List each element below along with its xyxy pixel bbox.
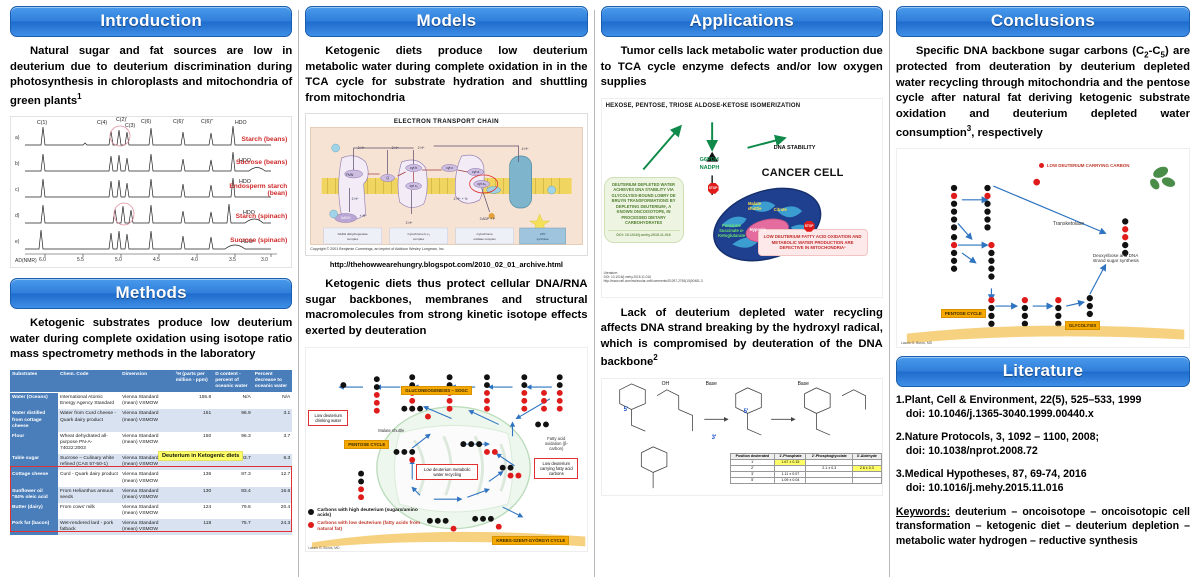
section-header-applications: Applications — [601, 6, 883, 37]
deuterium-depleted-water-box: DEUTERIUM DEPLETED WATER ACHIEVES DNA ST… — [604, 177, 684, 243]
nmr-toplabel-c6p: C(6)' — [173, 119, 184, 125]
svg-text:+ H⁺: + H⁺ — [360, 214, 367, 218]
cell-code: Water from Curd cheese - Quark dairy pro… — [58, 409, 120, 431]
legend-dot-low-deuterium-carbon — [1039, 163, 1044, 168]
applications-body-2-text: Lack of deuterium depleted water recycli… — [601, 307, 883, 369]
source-line-3: http://www.cell.com/molecular-cell/comme… — [604, 279, 703, 283]
cell-dimension: Vienna Standard (mean) VSMOW — [120, 393, 174, 410]
cell-code: International Atomic Energy Agency Stand… — [58, 393, 120, 410]
svg-text:2 H⁺: 2 H⁺ — [352, 197, 359, 201]
pentose-credit: Laszlo G. Boros, MD — [901, 341, 932, 345]
tag-gluconeogenesis: GLUCONEOGENESIS – SOGC — [401, 386, 472, 395]
cell-code: From Helianthus annuus seeds — [58, 487, 120, 503]
nmr-axis-line — [21, 253, 279, 258]
svg-text:2 H⁺: 2 H⁺ — [392, 146, 399, 150]
low-deuterium-fatty-acid-box: LOW DEUTERIUM FATTY ACID OXIDATION AND M… — [758, 229, 868, 256]
tag-glycolysis-box: GLYCOLYSIS — [1065, 321, 1101, 330]
cell-v3 — [853, 477, 882, 483]
table-row: Sunflower oil "84% oleic acid From Helia… — [10, 487, 292, 503]
etc-canvas: 2 H⁺2 H⁺2 H⁺ 4 H⁺2 H⁺2 H⁺ 2 H⁺ + ½3 ADP … — [310, 127, 582, 245]
mito-label-malate-shuttle: Malate shuttle — [742, 201, 768, 211]
svg-text:cyt c: cyt c — [446, 166, 453, 170]
mito-label-citrate: Citrate — [774, 207, 787, 212]
conclusions-part1: Specific DNA backbone sugar carbons (C — [916, 45, 1144, 57]
nmr-spectra-figure: C(1) C(4) C(2)' C(3) C(6) C(6)' C(6)'' H… — [10, 116, 292, 268]
cell-substrate: Sunflower oil "84% oleic acid — [10, 487, 58, 503]
table-row: Flour Wheat dehydrated all-purpose PN-A-… — [10, 432, 292, 454]
cell-v1: 1.09 ± 0.04 — [775, 477, 806, 483]
conclusions-part2: -C — [1149, 45, 1161, 57]
dna-backbone-figure: OH Base Base 3' 5' 5' Position deuterate… — [601, 378, 883, 496]
label-malate-shuttle: Malate shuttle — [378, 428, 404, 433]
cell-decrease: 16.6 — [253, 487, 293, 503]
models-body-2: Ketogenic diets thus protect cellular DN… — [305, 277, 587, 339]
nmr-toplabel-hdo: HDO — [235, 120, 247, 126]
label-deoxyribose-synthesis: Deoxyribose and DNA strand sugar synthes… — [1093, 253, 1149, 264]
cell-code: From cows' milk — [58, 503, 120, 519]
pentose-cycle-figure: LOW DEUTERIUM CARRYING CARBON Transketol… — [896, 148, 1190, 348]
cell-h2: 124 — [174, 503, 214, 519]
svg-text:Cytochrome b-c₁: Cytochrome b-c₁ — [408, 232, 430, 236]
poster-root: Introduction Natural sugar and fat sourc… — [0, 0, 1200, 587]
cell-dimension: Vienna Standard (mean) VSMOW — [120, 503, 174, 519]
table-row: Butter (dairy) From cows' milk Vienna St… — [10, 503, 292, 519]
legend-low-deuterium: Carbons with low deuterium (fatty acids … — [317, 521, 427, 532]
label-fatty-acid-oxidation: Fatty acid oxidation (β-carbon) — [538, 436, 574, 451]
table-row: 5' 1.09 ± 0.04 — [730, 477, 881, 483]
table-row: Table sugar Sucrose – Culinary white ref… — [10, 454, 292, 470]
svg-text:Q: Q — [387, 176, 390, 180]
cell-decrease: N/A — [253, 393, 293, 410]
conclusions-body: Specific DNA backbone sugar carbons (C2-… — [896, 44, 1190, 141]
nmr-tick-4-5: 4.5 — [153, 257, 160, 263]
nmr-label-sucrose-spinach: Sucrose (spinach) — [227, 237, 287, 244]
cell-dimension: Vienna Standard (mean) VSMOW — [120, 487, 174, 503]
electron-transport-chain-figure: ELECTRON TRANSPORT CHAIN — [305, 113, 587, 256]
column-models: Models Ketogenic diets produce low deute… — [299, 6, 593, 581]
th-h2-ppm: ²H (parts per million - ppm) — [174, 370, 214, 393]
cancer-cell-figure: HEXOSE, PENTOSE, TRIOSE ALDOSE-KETOSE IS… — [601, 98, 883, 298]
cell-dcontent: N/A — [213, 393, 253, 410]
nmr-row-id-d: d) — [15, 213, 19, 219]
models-body: Ketogenic diets produce low deuterium me… — [305, 44, 587, 106]
th-d-content: D content - percent of oceanic water — [213, 370, 253, 393]
nmr-tick-3-5: 3.5 — [229, 257, 236, 263]
introduction-superscript: 1 — [77, 92, 81, 101]
etc-title: ELECTRON TRANSPORT CHAIN — [310, 118, 582, 125]
dna-label-3prime: 3' — [712, 435, 717, 441]
svg-text:2 H⁺: 2 H⁺ — [406, 221, 413, 225]
column-applications: Applications Tumor cells lack metabolic … — [595, 6, 889, 581]
red-box-low-deuterium-drinking-water: Low deuterium drinking water — [308, 410, 348, 426]
dna-products-table: Position deuterated 1'-Phosphate 2'-Phos… — [730, 453, 882, 484]
section-header-models: Models — [305, 6, 587, 37]
svg-text:complex: complex — [413, 237, 425, 241]
cell-decrease: 20.4 — [253, 503, 293, 519]
th-substrates: Substrates — [10, 370, 58, 393]
svg-text:cyt b: cyt b — [410, 166, 417, 170]
nmr-row-id-c: c) — [15, 187, 19, 193]
applications-superscript: 2 — [653, 353, 657, 362]
nmr-toplabel-c3: C(3) — [125, 123, 135, 129]
cell-substrate: Water distilled from cottage cheese — [10, 409, 58, 431]
nmr-toplabel-c6pp: C(6)'' — [201, 119, 213, 125]
reference-citation: Medical Hypotheses, 87, 69-74, 2016 — [905, 468, 1087, 480]
methods-table: Substrates Chem. Code Dimension ²H (part… — [10, 370, 292, 536]
reference-number: 3. — [896, 468, 905, 480]
svg-text:2 H⁺: 2 H⁺ — [358, 146, 365, 150]
cell-substrate: Flour — [10, 432, 58, 454]
dna-label-5prime-a: 5' — [624, 407, 629, 413]
cell-code: Curd - Quark dairy product — [58, 470, 120, 486]
krebs-credit: Laszlo G. Boros, MD — [308, 546, 339, 550]
cell-code: Wheat dehydrated all-purpose PN-A-74022:… — [58, 432, 120, 454]
etc-copyright: Copyright © 2001 Benjamin Cummings, an i… — [310, 247, 582, 251]
applications-body-2: Lack of deuterium depleted water recycli… — [601, 306, 883, 371]
column-introduction-methods: Introduction Natural sugar and fat sourc… — [4, 6, 298, 581]
table-row: Cottage cheese Curd - Quark dairy produc… — [10, 470, 292, 486]
cell-substrate: Pork fat (bacon) — [10, 519, 58, 535]
tag-pentose-cycle-box: PENTOSE CYCLE — [941, 309, 986, 318]
column-conclusions-literature: Conclusions Specific DNA backbone sugar … — [890, 6, 1196, 581]
methods-table-wrap: Substrates Chem. Code Dimension ²H (part… — [10, 370, 292, 536]
nmr-label-sucrose-beans: Sucrose (beans) — [227, 159, 287, 166]
cell-code: Sucrose – Culinary white refined (CAS 57… — [58, 454, 120, 470]
nmr-row-id-e: e) — [15, 239, 19, 245]
cell-decrease: 3.1 — [253, 409, 293, 431]
th-percent-decrease: Percent decrease to oceanic water — [253, 370, 293, 393]
nmr-label-starch-spinach: Starch (spinach) — [227, 213, 287, 220]
cell-substrate: Cottage cheese — [10, 470, 58, 486]
svg-text:3 ADP + P: 3 ADP + P — [480, 217, 496, 221]
introduction-body-text: Natural sugar and fat sources are low in… — [10, 45, 292, 107]
reference-citation: Plant, Cell & Environment, 22(5), 525–53… — [905, 394, 1142, 406]
dna-label-base-1: Base — [706, 381, 717, 387]
red-box-low-deuterium-metabolic-water: Low deuterium metabolic water recycling — [416, 464, 478, 480]
svg-text:FMN: FMN — [346, 173, 354, 177]
dna-products-table-wrap: Position deuterated 1'-Phosphate 2'-Phos… — [730, 453, 882, 484]
svg-text:2 H⁺: 2 H⁺ — [418, 146, 425, 150]
reference-item-2: 2.Nature Protocols, 3, 1092 – 1100, 2008… — [896, 431, 1190, 459]
mito-label-tca-intermediates: Fumarate Succinate α-Ketoglutarate — [714, 223, 750, 238]
table-row: Water distilled from cottage cheese Wate… — [10, 409, 292, 431]
reference-doi: doi: 10.1016/j.mehy.2015.11.016 — [896, 482, 1190, 496]
table-row: Pork fat (bacon) Wet-rendered lard - por… — [10, 519, 292, 535]
reference-item-1: 1.Plant, Cell & Environment, 22(5), 525–… — [896, 394, 1190, 422]
legend-dot-low-deuterium — [308, 522, 314, 528]
svg-text:Cytochrome: Cytochrome — [477, 232, 494, 236]
svg-text:2 H⁺ + ½: 2 H⁺ + ½ — [454, 197, 468, 201]
nmr-toplabel-c1: C(1) — [37, 120, 47, 126]
conclusions-part4: , respectively — [971, 126, 1043, 138]
svg-text:ATP: ATP — [540, 232, 546, 236]
cell-decrease: 12.7 — [253, 470, 293, 486]
cell-h2: 151 — [174, 409, 214, 431]
stop-sign-upper: STOP — [708, 183, 719, 194]
cell-h2: 118 — [174, 519, 214, 535]
cell-dcontent: 79.6 — [213, 503, 253, 519]
cell-pos: 5' — [730, 477, 775, 483]
cell-h2: 136 — [174, 470, 214, 486]
etc-source-url: http://thehowwearehungry.blogspot.com/20… — [305, 260, 587, 269]
section-header-conclusions: Conclusions — [896, 6, 1190, 37]
nmr-label-endosperm-starch: Endosperm starch (bean) — [227, 183, 287, 198]
stop-sign-lower: STOP — [804, 221, 815, 232]
reference-number: 1. — [896, 394, 905, 406]
section-header-literature: Literature — [896, 356, 1190, 387]
dna-stability-label: DNA STABILITY — [774, 145, 816, 151]
nadph-label: NADPH — [700, 165, 720, 172]
cell-dimension: Vienna Standard (mean) VSMOW — [120, 470, 174, 486]
cell-dcontent: 87.3 — [213, 470, 253, 486]
th-dimension: Dimension — [120, 370, 174, 393]
svg-text:cyt c₁: cyt c₁ — [410, 184, 419, 188]
nmr-tick-4-0: 4.0 — [191, 257, 198, 263]
reference-number: 2. — [896, 431, 905, 443]
krebs-cycle-schematic: GLUCONEOGENESIS – SOGC PENTOSE CYCLE KRE… — [305, 347, 587, 552]
dna-label-oh: OH — [662, 381, 670, 387]
nmr-tick-3-0: 3.0 — [261, 257, 268, 263]
label-transketolase: Transketolase — [1053, 221, 1084, 227]
cancer-figure-source: Literature: DOI: 10.1016/j.mehy.2015.11.… — [604, 271, 703, 283]
cell-h2: 130 — [174, 487, 214, 503]
nmr-toplabel-c4: C(4) — [97, 120, 107, 126]
literature-list: 1.Plant, Cell & Environment, 22(5), 525–… — [896, 394, 1190, 549]
svg-text:4 H⁺: 4 H⁺ — [522, 147, 529, 151]
legend-dot-high-deuterium — [308, 509, 314, 515]
cell-dimension: Vienna Standard (mean) VSMOW — [120, 409, 174, 431]
g6pdh-label: G6PDH — [700, 157, 719, 164]
cell-substrate: Water (Oceans) — [10, 393, 58, 410]
reference-citation: Nature Protocols, 3, 1092 – 1100, 2008; — [905, 431, 1099, 443]
legend-high-deuterium: Carbons with high deuterium (sugars/amin… — [317, 508, 427, 519]
cell-dcontent: 83.4 — [213, 487, 253, 503]
etc-diagram: 2 H⁺2 H⁺2 H⁺ 4 H⁺2 H⁺2 H⁺ 2 H⁺ + ½3 ADP … — [311, 128, 581, 246]
cell-substrate: Butter (dairy) — [10, 503, 58, 519]
green-box-text: DEUTERIUM DEPLETED WATER ACHIEVES DNA ST… — [612, 182, 676, 226]
mito-label-hypoxia: Hypoxia — [750, 227, 766, 232]
svg-text:oxidase complex: oxidase complex — [474, 237, 497, 241]
cell-dcontent: 96.9 — [213, 409, 253, 431]
nmr-toplabel-c6: C(6) — [141, 119, 151, 125]
keywords-block: Keywords: deuterium – oncoisotope – onco… — [896, 505, 1190, 549]
svg-text:NADH dehydrogenase: NADH dehydrogenase — [338, 232, 368, 236]
cell-dcontent: 75.7 — [213, 519, 253, 535]
nmr-row-id-b: b) — [15, 161, 19, 167]
reference-doi: doi: 10.1046/j.1365-3040.1999.00440.x — [896, 408, 1190, 422]
cell-decrease: 3.7 — [253, 432, 293, 454]
nmr-row-id-a: a) — [15, 135, 19, 141]
reference-item-3: 3.Medical Hypotheses, 87, 69-74, 2016 do… — [896, 468, 1190, 496]
dna-label-base-2: Base — [798, 381, 809, 387]
cell-decrease: 24.3 — [253, 519, 293, 535]
red-box-low-deuterium-fatty-acid: Low deuterium carrying fatty acid carbon… — [534, 458, 578, 479]
cell-v2 — [806, 477, 853, 483]
green-box-doi: DOI: 10.1016/j.mehy.2015.11.016 — [608, 230, 680, 238]
nmr-tick-6-0: 6.0 — [39, 257, 46, 263]
svg-text:cyt a: cyt a — [472, 170, 479, 174]
introduction-body: Natural sugar and fat sources are low in… — [10, 44, 292, 109]
pentose-cycle-diagram — [897, 149, 1189, 348]
applications-body: Tumor cells lack metabolic water product… — [601, 44, 883, 91]
cell-code: Wet-rendered lard - pork fatback — [58, 519, 120, 535]
cell-decrease: 6.3 — [253, 454, 293, 470]
dna-label-5prime-b: 5' — [744, 409, 749, 415]
reference-doi: doi: 10.1038/nprot.2008.72 — [896, 445, 1190, 459]
methods-table-header-row: Substrates Chem. Code Dimension ²H (part… — [10, 370, 292, 393]
cell-dimension: Vienna Standard (mean) VSMOW — [120, 519, 174, 535]
cell-substrate: Table sugar — [10, 454, 58, 470]
keywords-label: Keywords: — [896, 506, 950, 518]
methods-body: Ketogenic substrates produce low deuteri… — [10, 316, 292, 363]
nmr-axis-label: AD(NMR) — [15, 258, 37, 264]
table-row: Water (Oceans) International Atomic Ener… — [10, 393, 292, 410]
svg-text:complex: complex — [347, 237, 359, 241]
section-header-methods: Methods — [10, 278, 292, 309]
nmr-rows: C(1) C(4) C(2)' C(3) C(6) C(6)' C(6)'' H… — [13, 121, 289, 253]
svg-text:synthase: synthase — [537, 237, 549, 241]
tag-pentose-cycle: PENTOSE CYCLE — [344, 440, 389, 449]
nmr-tick-5-5: 5.5 — [77, 257, 84, 263]
cell-h2: 155.8 — [174, 393, 214, 410]
svg-text:cyt a₃: cyt a₃ — [478, 182, 487, 186]
cancer-cell-label: CANCER CELL — [762, 167, 844, 179]
deuterium-ketogenic-callout: Deuterium in Ketogenic diets — [158, 451, 243, 461]
th-chem-code: Chem. Code — [58, 370, 120, 393]
nmr-tick-5-0: 5.0 — [115, 257, 122, 263]
pentose-legend: LOW DEUTERIUM CARRYING CARBON — [1047, 163, 1130, 168]
tag-krebs-cycle: KREBS-SZENT-GYÖRGYI CYCLE — [492, 536, 569, 545]
svg-text:NADH: NADH — [341, 216, 351, 220]
nmr-label-starch-beans: Starch (beans) — [241, 136, 287, 143]
section-header-introduction: Introduction — [10, 6, 292, 37]
